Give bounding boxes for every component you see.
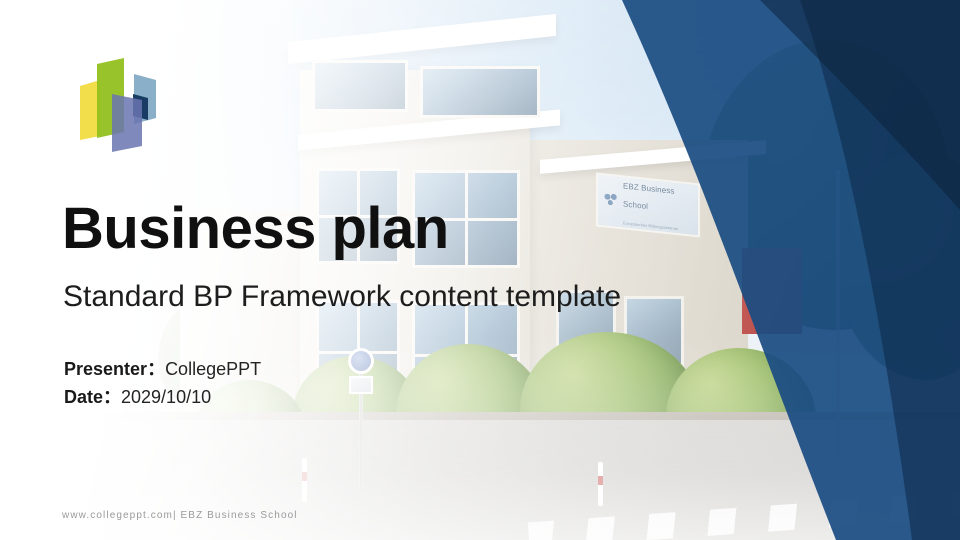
date-label: Date <box>64 387 103 407</box>
slide-title: Business plan <box>62 196 449 262</box>
slide-footer: www.collegeppt.com| EBZ Business School <box>62 510 298 521</box>
date-row: Date：2029/10/10 <box>64 383 261 411</box>
slide-subtitle: Standard BP Framework content template <box>63 279 621 315</box>
presentation-slide: EBZ Business School Europäisches Bildung… <box>0 0 960 540</box>
presenter-label: Presenter <box>64 359 147 379</box>
presenter-value: CollegePPT <box>165 359 261 379</box>
slide-meta: Presenter：CollegePPT Date：2029/10/10 <box>64 355 261 411</box>
presenter-colon: ： <box>147 359 165 379</box>
presenter-row: Presenter：CollegePPT <box>64 355 261 383</box>
date-colon: ： <box>103 387 121 407</box>
logo-purple-bar <box>112 94 142 152</box>
ebz-business-school-logo <box>76 48 170 154</box>
date-value: 2029/10/10 <box>121 387 211 407</box>
